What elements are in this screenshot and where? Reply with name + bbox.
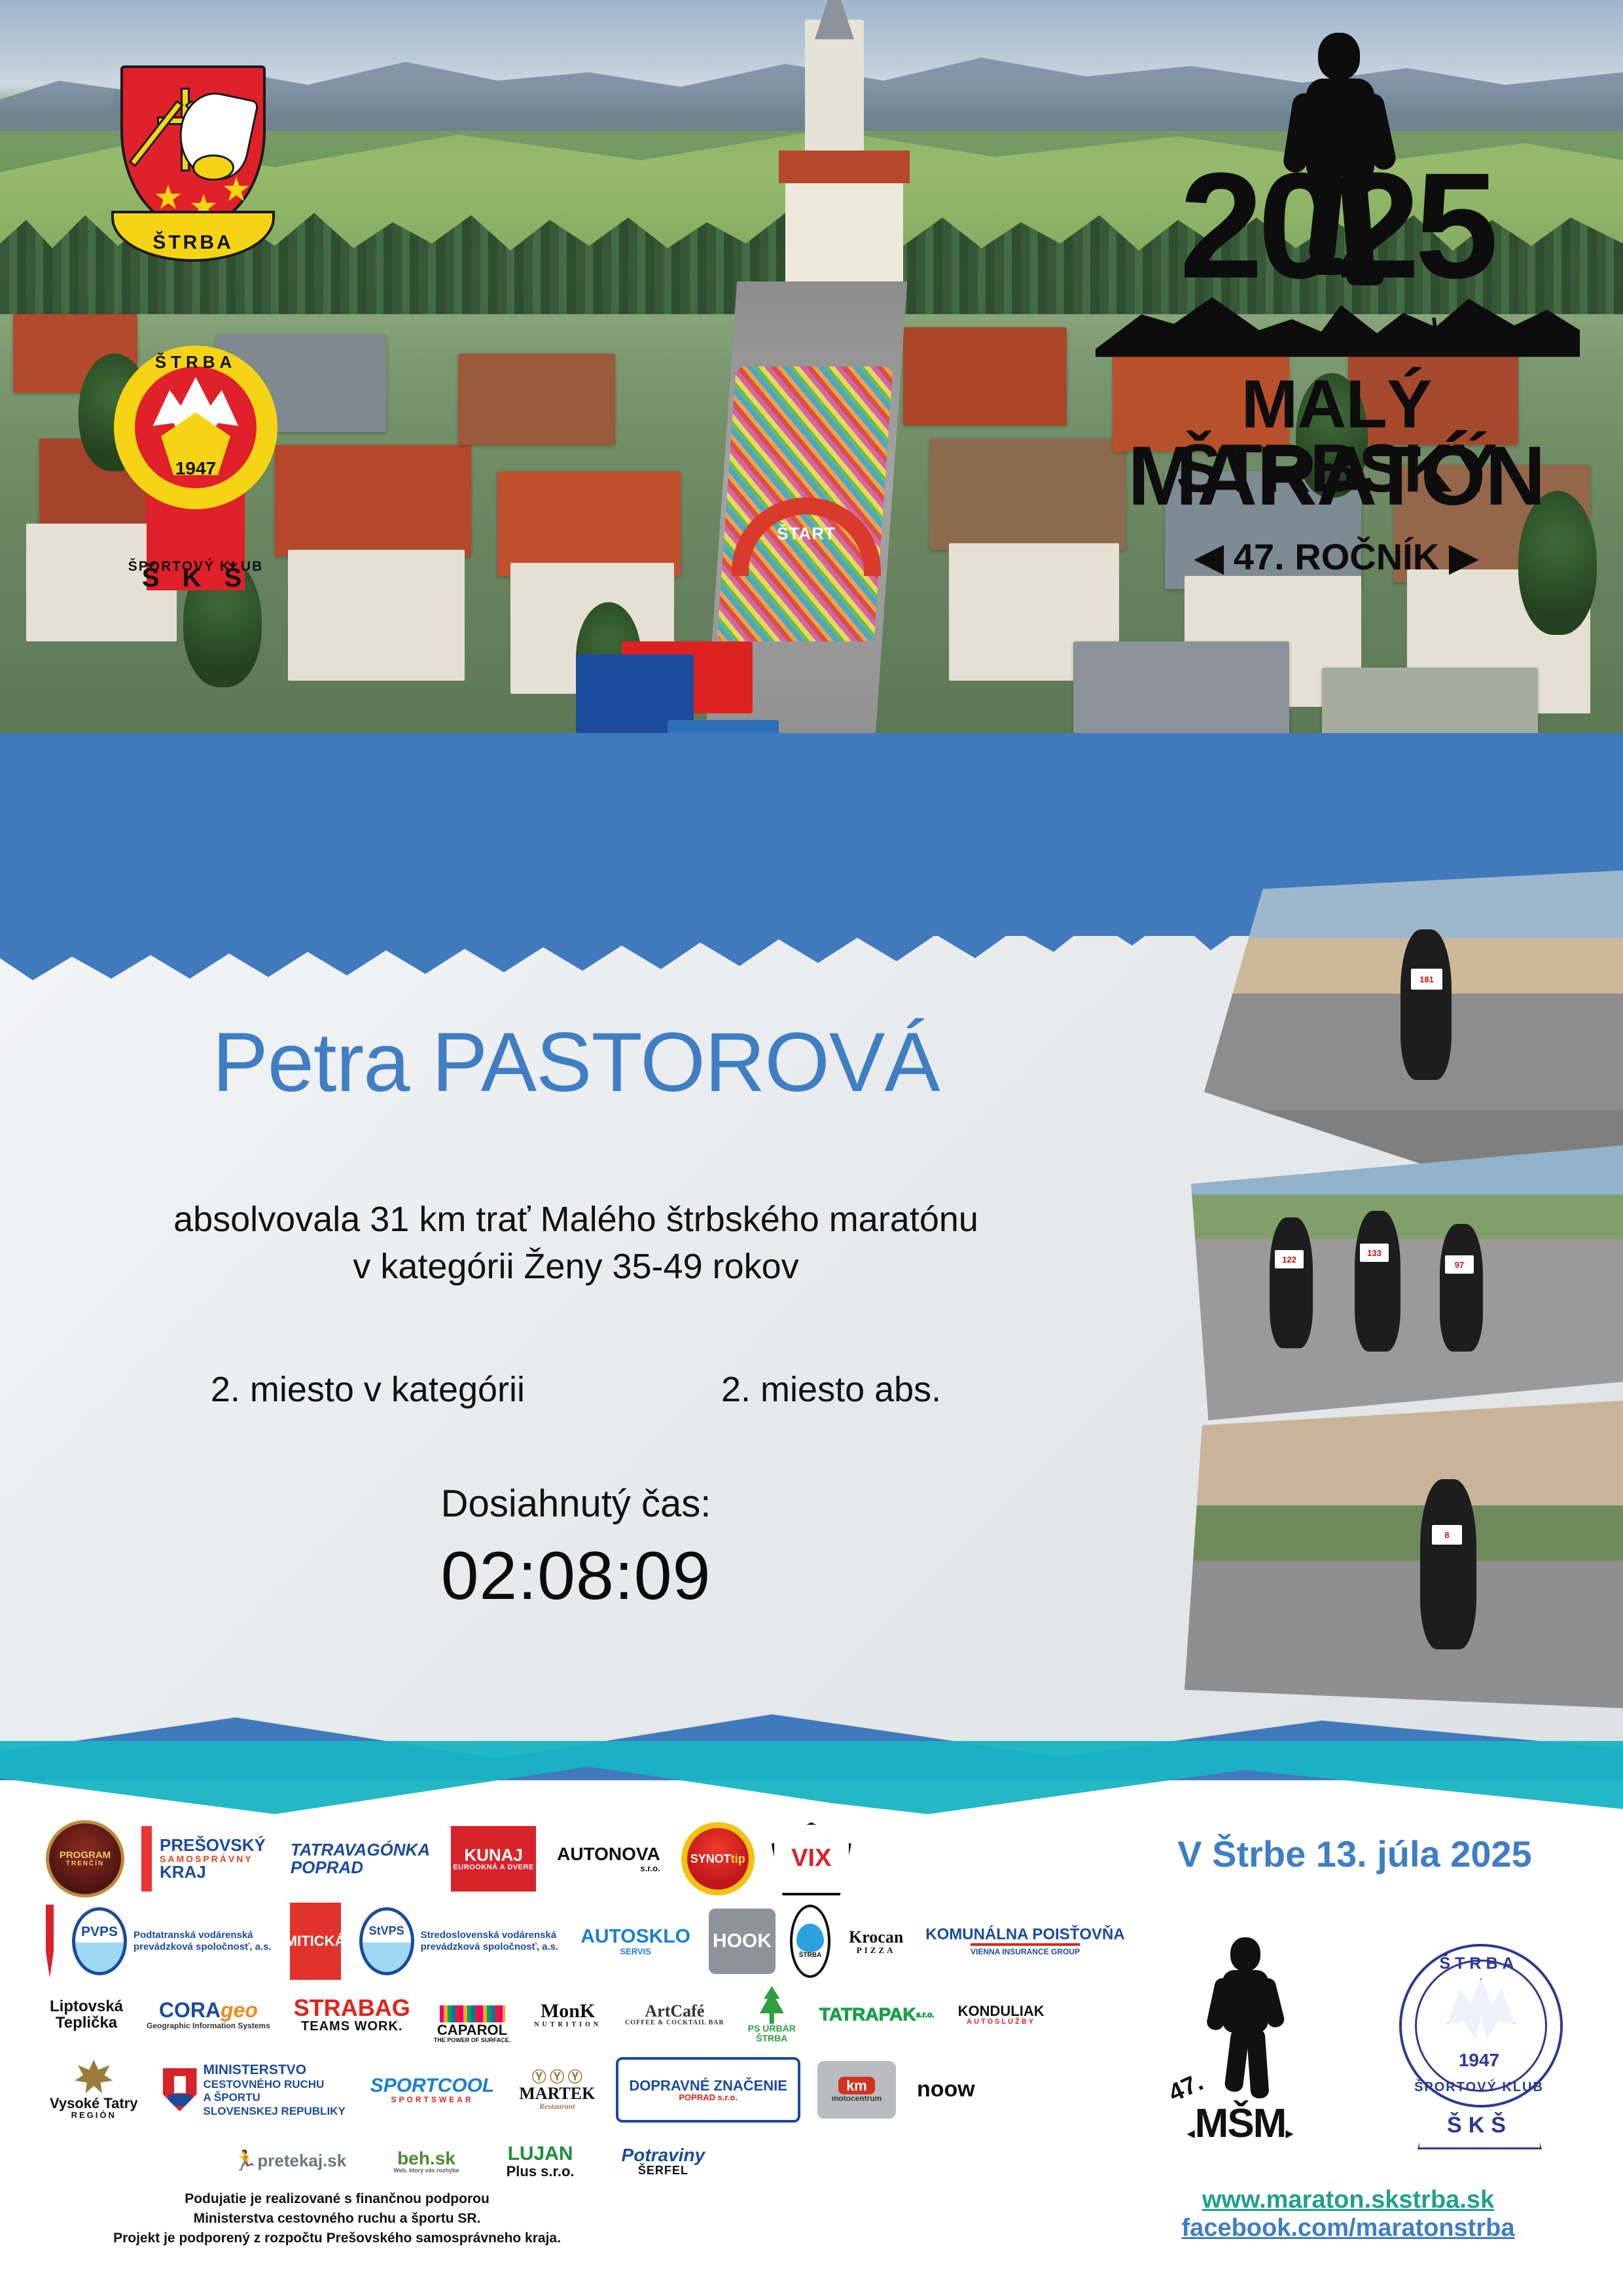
crest-inner-disc: 1947 [135,367,257,488]
website-link[interactable]: www.maraton.skstrba.sk [1113,2186,1584,2214]
finish-time-label: Dosiahnutý čas: [0,1482,1152,1526]
certificate-content: Petra PASTOROVÁ absolvovala 31 km trať M… [0,936,1152,1615]
sponsor-row-5: 🏃 pretekaj.sk beh.sk Web, ktorý vás rozh… [46,2128,1119,2194]
sponsor-artcafe: ArtCafé COFFEE & COCKTAIL BAR [621,1982,728,2047]
certificate-description: absolvovala 31 km trať Malého štrbského … [0,1196,1152,1291]
sponsor-vysoke-tatry: Vysoké Tatry REGIÓN [46,2057,142,2123]
strba-municipal-crest: ŠTRBA [111,65,275,262]
sponsor-tatrapak: TATRAPAK s.r.o. [815,1982,938,2047]
club-founded-year: 1947 [135,458,257,479]
crest-ribbon: ŠTRBA [111,211,275,262]
sponsor-kunaj: KUNAJ EUROOKNÁ A DVERE [451,1826,536,1892]
photo-collage: 181 122 133 97 8 [1178,870,1623,1734]
sponsor-presovsky-kraj: PREŠOVSKÝ SAMOSPRÁVNY KRAJ [141,1826,270,1892]
sponsor-beh-sk: beh.sk Web, ktorý vás rozhýbe [389,2128,463,2194]
sponsor-pvps: PVPS Podtatranská vodárenská prevádzková… [68,1909,276,1974]
stamp-top-label: ŠTRBA [1381,1954,1577,1973]
disclaimer-line-2: Ministerstva cestovného ruchu a športu S… [65,2209,609,2229]
place-absolute: 2. miesto abs. [721,1369,941,1410]
sponsor-vix: VIX [772,1822,851,1895]
athlete-name: Petra PASTOROVÁ [0,1014,1152,1111]
photo-finisher: 181 [1204,870,1623,1178]
sponsor-miticka: MITICKÁ [290,1903,341,1980]
msm-event-logo: 47. ◀MŠM▶ [1165,1937,1315,2153]
sponsor-row-4: Vysoké Tatry REGIÓN MINISTERSTVO CESTOVN… [46,2051,1119,2128]
sponsor-logos: PROGRAM TRENČÍN PREŠOVSKÝ SAMOSPRÁVNY KR… [46,1813,1119,2179]
facebook-link[interactable]: facebook.com/maratonstrba [1113,2214,1584,2242]
sponsor-strabag: STRABAG TEAMS WORK. [290,1982,414,2047]
stamp-abbr: ŠKŠ [1418,2104,1542,2149]
funding-disclaimer: Podujatie je realizované s finančnou pod… [65,2189,609,2248]
sponsor-komunalna-poistovna: KOMUNÁLNA POISŤOVŇA VIENNA INSURANCE GRO… [921,1909,1128,1974]
cuff-icon [192,154,234,181]
sponsor-monk-nutrition: MonK NUTRITION [530,1982,605,2047]
sponsor-tatravagonka: TATRAVAGÓNKA POPRAD [287,1826,434,1892]
disclaimer-line-3: Projekt je podporený z rozpočtu Prešovsk… [65,2229,609,2248]
sponsor-row-2: PVPS Podtatranská vodárenská prevádzková… [46,1905,1119,1978]
race-year: 2025 [1088,151,1585,301]
photo-runners-group: 122 133 97 [1191,1145,1623,1420]
contact-links: www.maraton.skstrba.sk facebook.com/mara… [1113,2186,1584,2242]
place-in-category: 2. miesto v kategórii [211,1369,525,1410]
club-crest-abbr: Š K Š [110,564,281,593]
disclaimer-line-1: Podujatie je realizované s finančnou pod… [65,2189,609,2209]
stamp-arc-label: ŠPORTOVÝ KLUB [1381,2080,1577,2095]
sponsor-synottip: SYNOTtip [681,1822,755,1895]
sponsor-caparol: CAPAROL THE POWER OF SURFACE. [430,1982,515,2047]
sponsor-martek-restaurant: Ⓨ Ⓨ Ⓨ MARTEK Restaurant [515,2057,599,2123]
sks-club-crest: 1947 ŠTRBA ŠPORTOVÝ KLUB Š K Š [110,335,281,597]
sponsor-konduliak: KONDULIAK AUTOSLUŽBY [954,1982,1048,2047]
sponsor-lujan-plus: LUJAN Plus s.r.o. [503,2128,579,2194]
msm-abbr: ◀MŠM▶ [1165,2100,1315,2147]
description-line-2: v kategórii Ženy 35-49 rokov [0,1243,1152,1290]
event-date: V Štrbe 13. júla 2025 [1139,1833,1571,1875]
msm-runner-icon [1211,1937,1283,2101]
sponsor-hook: HOOK [709,1909,776,1974]
sponsor-row-3: Liptovská Teplička CORAgeo Geographic In… [46,1978,1119,2051]
sponsor-strba-coat [46,1905,54,1978]
sponsor-pd-strba: ŠTRBA [790,1905,830,1978]
sponsor-stvps: StVPS Stredoslovenská vodárenská prevádz… [355,1909,563,1974]
crest-ribbon-label: ŠTRBA [152,232,233,259]
sponsor-autonova: AUTONOVA s.r.o. [553,1826,664,1892]
sponsor-liptovska-teplicka: Liptovská Teplička [46,1982,127,2047]
placement-row: 2. miesto v kategórii 2. miesto abs. [0,1369,1152,1410]
sponsor-noow: noow [913,2057,979,2123]
race-edition-label: ◀ 47. ROČNÍK ▶ [1088,535,1585,579]
sponsor-program: PROGRAM TRENČÍN [46,1820,124,1897]
club-stamp-logo: ŠTRBA 1947 ŠPORTOVÝ KLUB ŠKŠ [1381,1937,1577,2153]
crest-shield [120,65,266,229]
sponsor-krocan-pizza: Krocan PIZZA [845,1909,907,1974]
finish-time-value: 02:08:09 [0,1537,1152,1615]
sponsor-ps-urbar-strba: PS URBÁR ŠTRBA [744,1982,800,2047]
race-title-line2: MARATÓN [1088,437,1585,516]
sponsor-ministerstvo: MINISTERSTVO CESTOVNÉHO RUCHU A ŠPORTU S… [159,2057,349,2123]
sponsor-dopravne-znacenie: DOPRAVNÉ ZNAČENIE POPRAD s.r.o. [616,2057,800,2123]
description-line-1: absolvovala 31 km trať Malého štrbského … [0,1196,1152,1243]
sponsor-sportcool: SPORTCOOL SPORTSWEAR [366,2057,498,2123]
sponsor-autosklo: AUTOSKLO SERVIS [577,1909,694,1974]
photo-finish-line: 8 [1185,1401,1623,1708]
sponsor-row-1: PROGRAM TRENČÍN PREŠOVSKÝ SAMOSPRÁVNY KR… [46,1813,1119,1905]
club-crest-top-label: ŠTRBA [110,352,281,372]
sponsor-corageo: CORAgeo Geographic Information Systems [143,1982,274,2047]
stamp-year: 1947 [1381,2050,1577,2071]
sponsor-potraviny-serfel: Potraviny ŠERFEL [618,2128,709,2194]
race-title-logo: 2025 31 km 10 km MALÝ ŠTRBSKÝ MARATÓN ◀ … [1088,33,1585,576]
sponsor-km-motocentrum: km motocentrum [817,2061,896,2119]
sponsor-pretekaj-sk: 🏃 pretekaj.sk [229,2128,350,2194]
